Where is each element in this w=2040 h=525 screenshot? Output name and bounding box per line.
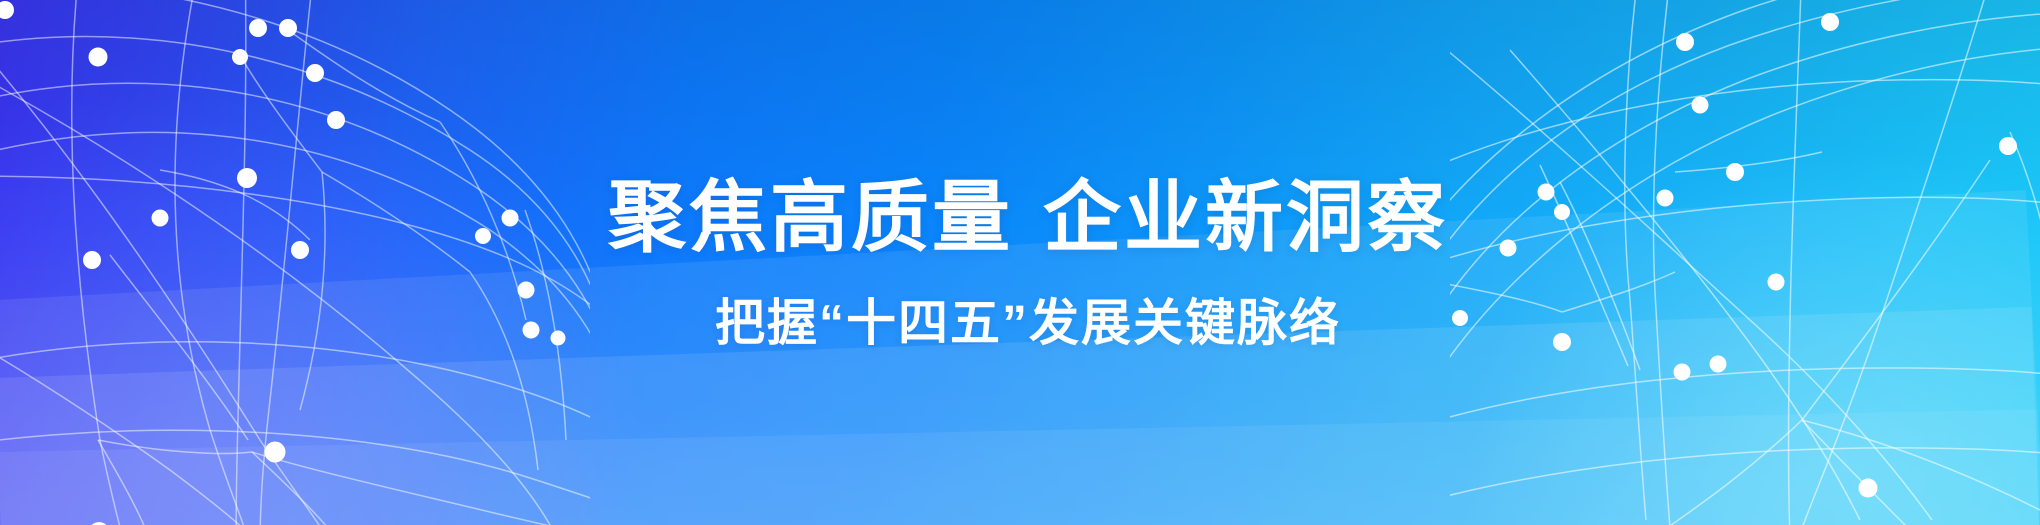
banner-subtitle: 把握“十四五”发展关键脉络	[715, 298, 1341, 348]
hero-banner: 聚焦高质量企业新洞察 把握“十四五”发展关键脉络	[0, 0, 2040, 525]
headline-part-2: 企业新洞察	[1043, 173, 1448, 261]
headline-part-1: 聚焦高质量	[608, 173, 1013, 261]
banner-text-block: 聚焦高质量企业新洞察 把握“十四五”发展关键脉络	[0, 0, 2040, 525]
banner-headline: 聚焦高质量企业新洞察	[608, 178, 1448, 256]
